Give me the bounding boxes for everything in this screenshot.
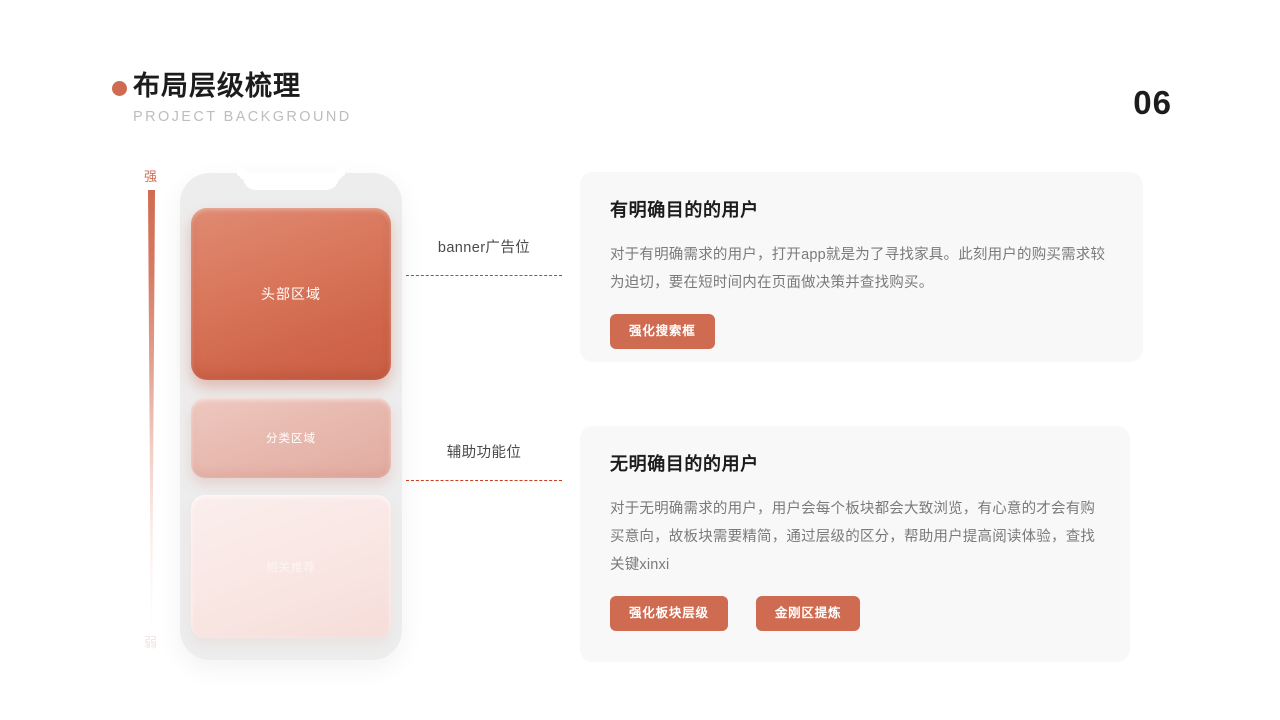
axis-label-strong: 强	[144, 170, 157, 183]
content-card-clear-purpose: 有明确目的的用户 对于有明确需求的用户，打开app就是为了寻找家具。此刻用户的购…	[580, 172, 1143, 362]
card-body: 对于有明确需求的用户，打开app就是为了寻找家具。此刻用户的购买需求较为迫切，要…	[610, 241, 1109, 298]
connector-aux: 辅助功能位	[406, 445, 562, 481]
bullet-dot-icon	[112, 81, 127, 96]
hierarchy-axis: 强 弱	[140, 170, 166, 660]
connector-banner: banner广告位	[406, 240, 562, 276]
connector-banner-dashed-line	[406, 275, 562, 276]
page-subtitle: PROJECT BACKGROUND	[133, 109, 1172, 125]
slide-header: 布局层级梳理 PROJECT BACKGROUND 06	[112, 72, 1172, 134]
axis-gradient-line	[148, 190, 155, 632]
card-title: 无明确目的的用户	[610, 454, 1096, 476]
connector-banner-label: banner广告位	[406, 240, 562, 257]
phone-notch	[243, 173, 339, 190]
content-card-no-clear-purpose: 无明确目的的用户 对于无明确需求的用户，用户会每个板块都会大致浏览，有心意的才会…	[580, 426, 1130, 662]
title-row: 布局层级梳理	[112, 72, 1172, 102]
connector-aux-dashed-line	[406, 480, 562, 481]
action-enhance-block-hierarchy[interactable]: 强化板块层级	[610, 596, 728, 631]
card-body: 对于无明确需求的用户，用户会每个板块都会大致浏览，有心意的才会有购买意向，故板块…	[610, 495, 1096, 580]
card-title: 有明确目的的用户	[610, 200, 1109, 222]
connector-aux-label: 辅助功能位	[406, 445, 562, 462]
action-king-kong-zone-refine[interactable]: 金刚区提炼	[756, 596, 861, 631]
phone-mockup: 头部区域 分类区域 相关推荐	[180, 173, 402, 660]
page-number: 06	[1133, 84, 1172, 122]
layout-block-category[interactable]: 分类区域	[191, 398, 391, 478]
card-actions: 强化板块层级 金刚区提炼	[610, 596, 1096, 631]
layout-block-header[interactable]: 头部区域	[191, 208, 391, 380]
page-title: 布局层级梳理	[133, 72, 301, 102]
layout-block-recommend[interactable]: 相关推荐	[191, 495, 391, 638]
axis-label-weak: 弱	[144, 636, 157, 649]
card-actions: 强化搜索框	[610, 314, 1109, 349]
action-enhance-search-box[interactable]: 强化搜索框	[610, 314, 715, 349]
